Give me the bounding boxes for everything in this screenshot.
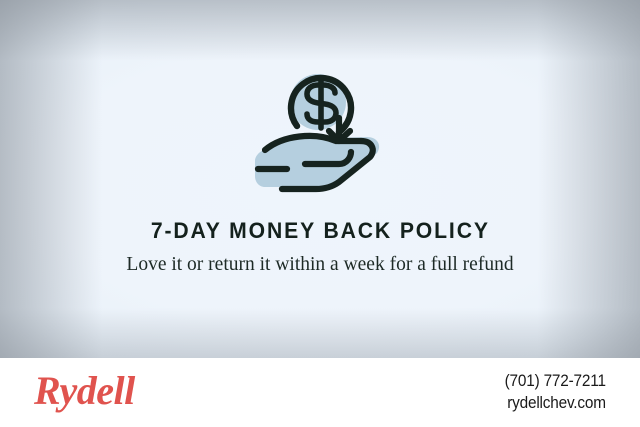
promo-subhead: Love it or return it within a week for a… bbox=[124, 253, 516, 278]
hand-holding-money-refund-icon bbox=[235, 68, 405, 200]
phone-number[interactable]: (701) 772-7211 bbox=[505, 371, 606, 392]
contact-block: (701) 772-7211 rydellchev.com bbox=[497, 371, 606, 413]
page-title: 7-DAY MONEY BACK POLICY bbox=[150, 218, 489, 244]
footer-bar: Rydell (701) 772-7211 rydellchev.com bbox=[0, 358, 640, 427]
rydell-logo[interactable]: Rydell bbox=[34, 371, 135, 414]
promo-panel: 7-DAY MONEY BACK POLICY Love it or retur… bbox=[0, 0, 640, 358]
website-link[interactable]: rydellchev.com bbox=[505, 393, 606, 414]
money-back-policy-ad: 7-DAY MONEY BACK POLICY Love it or retur… bbox=[0, 0, 640, 427]
